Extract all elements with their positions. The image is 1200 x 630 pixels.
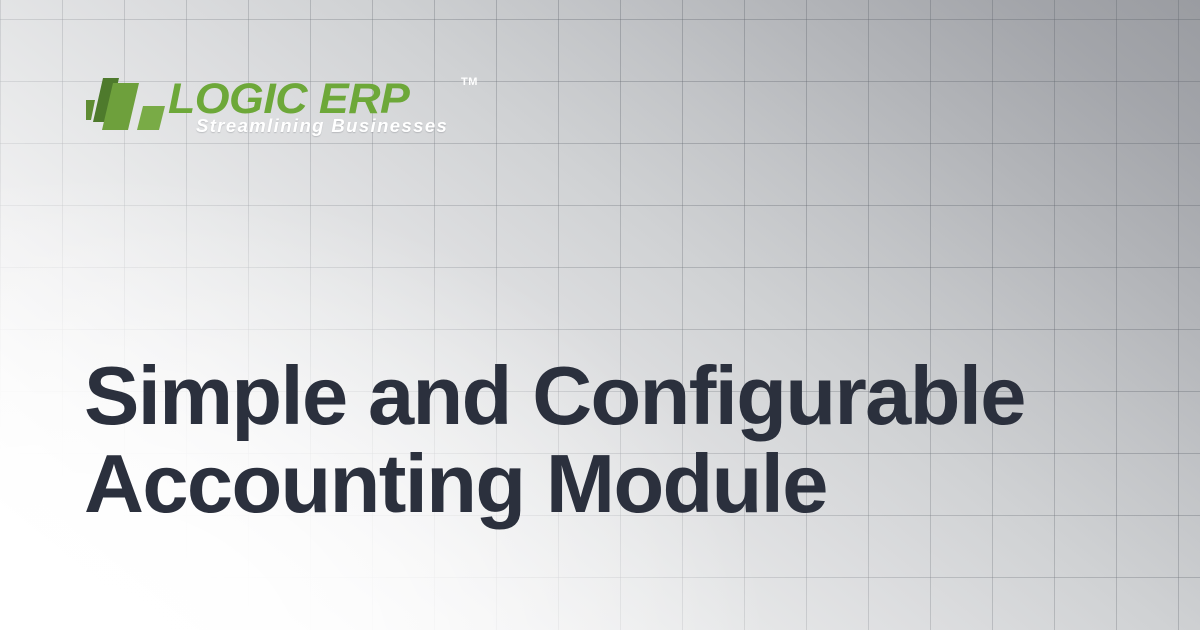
marketing-banner: LOGIC ERP TM Streamlining Businesses Sim… xyxy=(0,0,1200,630)
page-title: Simple and Configurable Accounting Modul… xyxy=(84,352,1144,528)
logic-erp-bars-mark-icon xyxy=(86,68,174,134)
logo-bar-4 xyxy=(137,106,165,130)
trademark-symbol: TM xyxy=(461,77,478,88)
logo-tagline: Streamlining Businesses xyxy=(196,117,448,136)
logic-erp-logo: LOGIC ERP TM Streamlining Businesses xyxy=(86,68,506,148)
page-title-line-2: Accounting Module xyxy=(84,440,1144,528)
page-title-line-1: Simple and Configurable xyxy=(84,352,1144,440)
logo-bar-1 xyxy=(86,100,95,120)
logo-mark-svg xyxy=(86,68,174,134)
